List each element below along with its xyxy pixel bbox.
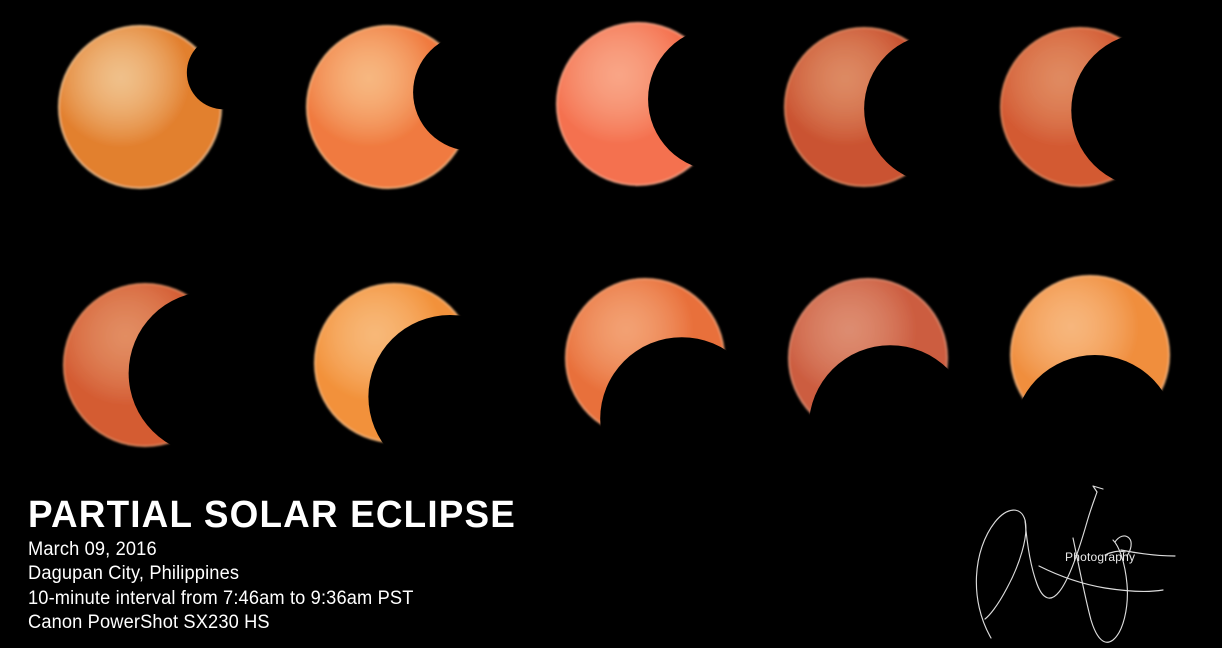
eclipse-frame-10: [984, 249, 1196, 461]
caption-interval: 10-minute interval from 7:46am to 9:36am…: [28, 587, 623, 611]
eclipse-frame-3: [530, 0, 746, 212]
eclipse-frame-9: [762, 252, 974, 464]
eclipse-frame-4: [758, 1, 970, 213]
eclipse-frame-2: [280, 0, 496, 215]
page-title: PARTIAL SOLAR ECLIPSE: [28, 496, 629, 534]
signature-wordmark: Photography: [1065, 550, 1135, 564]
caption-camera: Canon PowerShot SX230 HS: [28, 611, 623, 635]
eclipse-frame-1: [32, 0, 248, 215]
caption-location: Dagupan City, Philippines: [28, 562, 623, 586]
signature-block: Photography: [955, 480, 1210, 645]
caption-block: PARTIAL SOLAR ECLIPSE March 09, 2016 Dag…: [28, 496, 648, 635]
eclipse-poster: PARTIAL SOLAR ECLIPSE March 09, 2016 Dag…: [0, 0, 1222, 648]
caption-date: March 09, 2016: [28, 538, 623, 562]
eclipse-frame-8: [539, 252, 751, 464]
eclipse-frame-7: [288, 257, 500, 469]
eclipse-frame-5: [974, 1, 1186, 213]
eclipse-frame-6: [37, 257, 253, 473]
